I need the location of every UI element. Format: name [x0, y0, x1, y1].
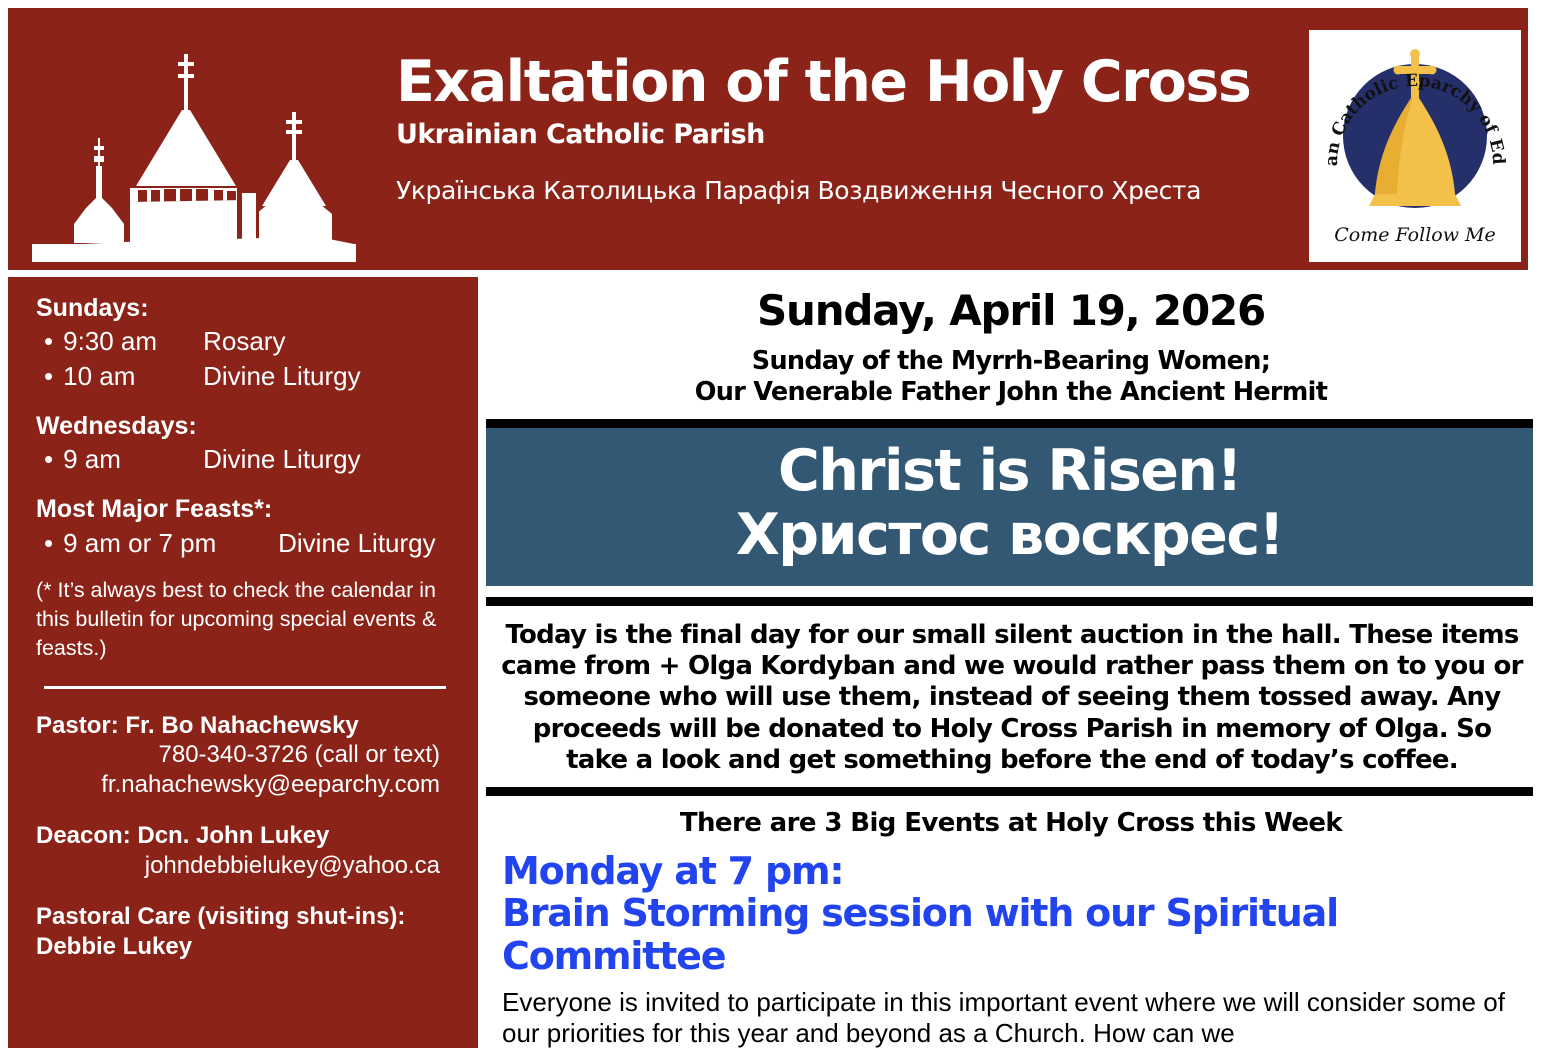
bulletin-date: Sunday, April 19, 2026 [484, 289, 1538, 333]
page-title: Exaltation of the Holy Cross [396, 54, 1296, 111]
sidebar-heading-sundays: Sundays: [36, 293, 458, 324]
bullet-icon: • [44, 326, 53, 356]
feast-line-1: Sunday of the Myrrh-Bearing Women; [484, 346, 1538, 377]
schedule-item: •10 amDivine Liturgy [36, 359, 458, 393]
divider-above-banner [486, 419, 1533, 428]
schedule-item: •9 amDivine Liturgy [36, 442, 458, 476]
paschal-greeting-ukrainian: Христос воскрес! [486, 504, 1533, 568]
schedule-item: •9 am or 7 pmDivine Liturgy [36, 526, 458, 560]
bullet-icon: • [44, 361, 53, 391]
pastoral-care-name: Debbie Lukey [36, 932, 458, 961]
page-header: Exaltation of the Holy Cross Ukrainian C… [8, 8, 1528, 270]
church-silhouette-icon [24, 38, 384, 268]
main-content: Sunday, April 19, 2026 Sunday of the Myr… [484, 277, 1538, 1048]
silent-auction-notice: Today is the final day for our small sil… [500, 620, 1524, 776]
parish-subtitle: Ukrainian Catholic Parish [396, 121, 1296, 148]
sidebar-heading-wednesdays: Wednesdays: [36, 411, 458, 442]
bullet-icon: • [44, 444, 53, 474]
pastor-phone[interactable]: 780-340-3726 (call or text) [36, 740, 458, 770]
sidebar-note: (* It’s always best to check the calenda… [36, 576, 458, 664]
paschal-greeting-english: Christ is Risen! [486, 440, 1533, 504]
schedule-item: •9:30 amRosary [36, 324, 458, 358]
schedule-time: 9 am [63, 442, 203, 476]
pastor-email[interactable]: fr.nahachewsky@eeparchy.com [36, 770, 458, 800]
schedule-time: 9 am or 7 pm [63, 526, 278, 560]
paschal-greeting-banner: Christ is Risen! Христос воскрес! [486, 428, 1533, 586]
header-title-group: Exaltation of the Holy Cross Ukrainian C… [396, 54, 1296, 203]
divider-above-events [486, 787, 1533, 796]
pastor-label: Pastor: Fr. Bo Nahachewsky [36, 711, 458, 740]
eparchy-dome-cross-icon: Ukrainian Catholic Eparchy of Edmonton C… [1315, 36, 1515, 256]
deacon-email[interactable]: johndebbielukey@yahoo.ca [36, 851, 458, 881]
sidebar: Sundays: •9:30 amRosary •10 amDivine Lit… [8, 277, 478, 1048]
schedule-service: Divine Liturgy [203, 361, 361, 391]
schedule-time: 9:30 am [63, 324, 203, 358]
deacon-label: Deacon: Dcn. John Lukey [36, 821, 458, 850]
divider-below-banner [486, 597, 1533, 606]
parish-title-ukrainian: Українська Католицька Парафія Воздвиженн… [396, 178, 1296, 203]
schedule-time: 10 am [63, 359, 203, 393]
event-1-description: Everyone is invited to participate in th… [502, 987, 1518, 1049]
feast-day-names: Sunday of the Myrrh-Bearing Women; Our V… [484, 346, 1538, 408]
sidebar-heading-feasts: Most Major Feasts*: [36, 494, 458, 525]
eparchy-logo: Ukrainian Catholic Eparchy of Edmonton C… [1309, 30, 1521, 262]
schedule-service: Divine Liturgy [278, 528, 436, 558]
sidebar-divider [44, 686, 446, 689]
bullet-icon: • [44, 528, 53, 558]
schedule-service: Divine Liturgy [203, 444, 361, 474]
events-heading: There are 3 Big Events at Holy Cross thi… [484, 809, 1538, 838]
logo-motto: Come Follow Me [1334, 224, 1495, 246]
pastoral-care-label: Pastoral Care (visiting shut-ins): [36, 902, 458, 931]
schedule-service: Rosary [203, 326, 285, 356]
event-1-title: Brain Storming session with our Spiritua… [502, 892, 1538, 977]
event-1-when: Monday at 7 pm: [502, 850, 1538, 893]
feast-line-2: Our Venerable Father John the Ancient He… [484, 377, 1538, 408]
